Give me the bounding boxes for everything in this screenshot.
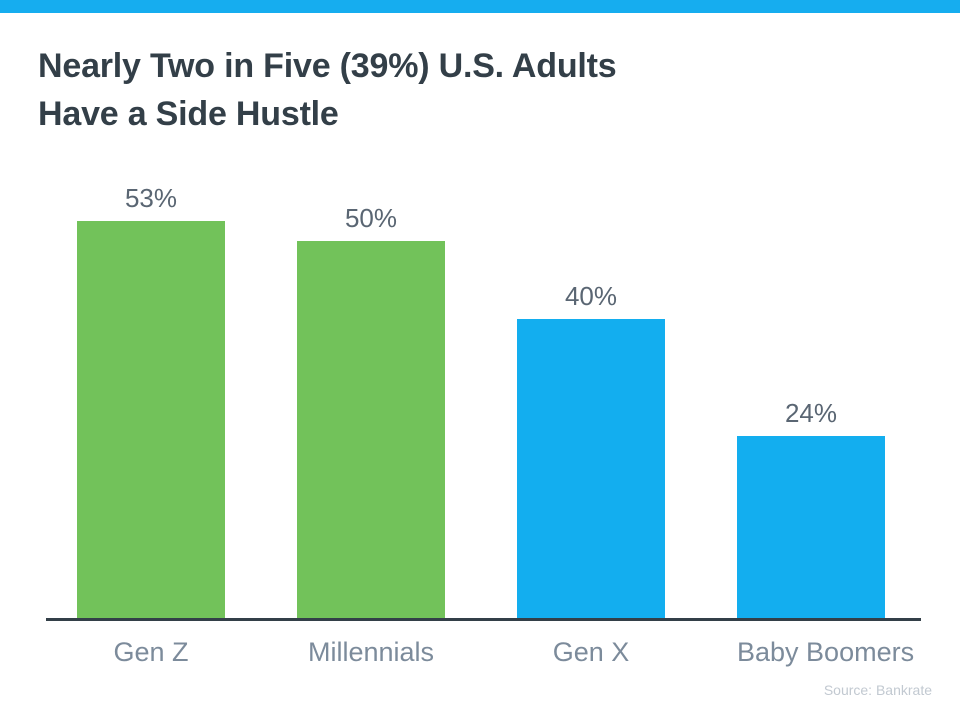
bar-millennials xyxy=(297,241,445,620)
bar-chart: 53%Gen Z50%Millennials40%Gen X24%Baby Bo… xyxy=(0,0,960,720)
bar-gen-x xyxy=(517,319,665,620)
category-label-gen-x: Gen X xyxy=(517,637,665,668)
bar-gen-z xyxy=(77,221,225,620)
bar-baby-boomers xyxy=(737,436,885,620)
bar-value-label: 50% xyxy=(297,203,445,234)
slide-canvas: Nearly Two in Five (39%) U.S. Adults Hav… xyxy=(0,0,960,720)
bar-value-label: 53% xyxy=(77,183,225,214)
bar-value-label: 40% xyxy=(517,281,665,312)
category-label-baby-boomers: Baby Boomers xyxy=(737,637,885,668)
category-label-gen-z: Gen Z xyxy=(77,637,225,668)
source-credit: Source: Bankrate xyxy=(824,682,932,698)
x-axis-line xyxy=(46,618,921,621)
bar-value-label: 24% xyxy=(737,398,885,429)
category-label-millennials: Millennials xyxy=(297,637,445,668)
